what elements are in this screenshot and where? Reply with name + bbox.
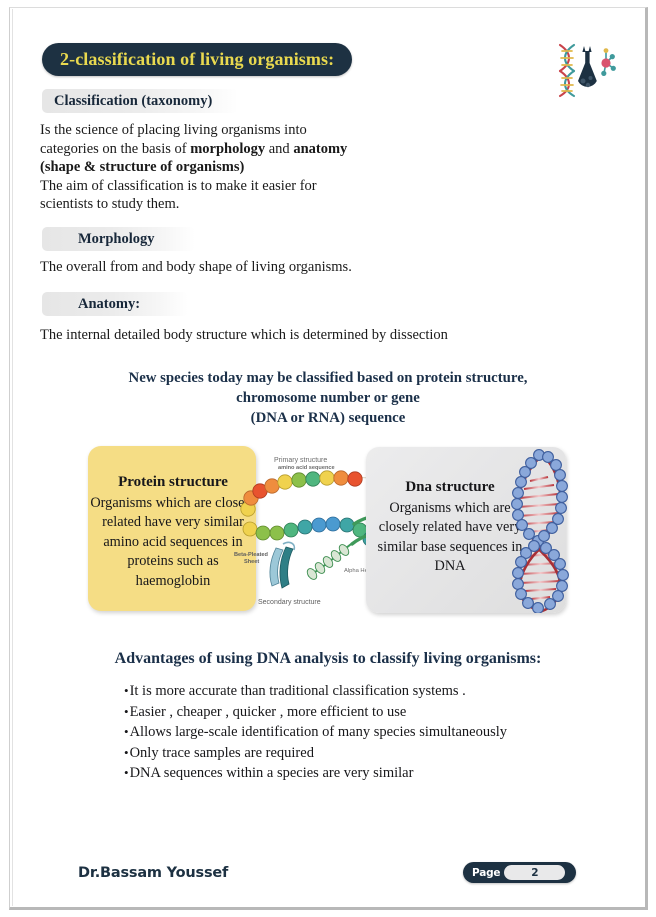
heading-morphology-label: Morphology <box>78 231 155 248</box>
dna-flask-molecule-logo-icon <box>552 37 618 99</box>
classification-line-2: categories on the basis of morphology an… <box>40 140 400 159</box>
page-title: 2-classification of living organisms: <box>60 49 334 70</box>
heading-classification-label: Classification (taxonomy) <box>54 93 212 110</box>
list-item-label: Only trace samples are required <box>130 744 314 764</box>
morphology-body: The overall from and body shape of livin… <box>40 258 460 277</box>
classification-line-2-a: categories on the basis of <box>40 141 190 157</box>
list-item: • Easier , cheaper , quicker , more effi… <box>124 702 594 723</box>
dna-double-helix-diagram-icon <box>502 447 580 613</box>
page-title-bar: 2-classification of living organisms: <box>42 43 352 76</box>
list-item: • Allows large-scale identification of m… <box>124 722 594 743</box>
page-badge-number: 2 <box>504 865 565 880</box>
page-root: 2-classification of living organisms: <box>0 0 656 917</box>
card-dna-body: Organisms which are closely related have… <box>378 500 523 575</box>
svg-text:Sheet: Sheet <box>244 559 259 565</box>
card-protein-body: Organisms which are closely related have… <box>90 495 255 589</box>
list-item-label: DNA sequences within a species are very … <box>130 764 414 784</box>
card-protein-structure: Protein structure Organisms which are cl… <box>88 446 256 611</box>
classification-line-4: The aim of classification is to make it … <box>40 177 400 196</box>
heading-classification: Classification (taxonomy) <box>42 89 238 113</box>
classification-body: Is the science of placing living organis… <box>40 121 400 214</box>
page-number-badge: Page 2 <box>463 862 576 883</box>
bullet-icon: • <box>124 681 129 701</box>
heading-anatomy-label: Anatomy: <box>78 296 140 313</box>
classification-line-2-b: and <box>265 141 293 157</box>
page-badge-label: Page <box>472 867 500 879</box>
bullet-icon: • <box>124 722 129 742</box>
term-anatomy: anatomy <box>293 141 347 157</box>
term-morphology: morphology <box>190 141 265 157</box>
card-protein-title: Protein structure <box>90 473 256 493</box>
heading-anatomy: Anatomy: <box>42 292 188 316</box>
svg-text:amino acid sequence: amino acid sequence <box>278 465 335 471</box>
statement-line-1: New species today may be classified base… <box>0 368 656 388</box>
advantages-list: • It is more accurate than traditional c… <box>124 681 594 784</box>
svg-text:Primary structure: Primary structure <box>274 457 327 464</box>
card-dna-structure: Dna structure Organisms which are closel… <box>366 447 566 613</box>
classification-line-5: scientists to study them. <box>40 195 400 214</box>
statement-line-3: (DNA or RNA) sequence <box>0 408 656 428</box>
classification-line-1: Is the science of placing living organis… <box>40 121 400 140</box>
heading-morphology: Morphology <box>42 227 195 251</box>
list-item: • It is more accurate than traditional c… <box>124 681 594 702</box>
card-protein-text: Protein structure Organisms which are cl… <box>90 473 256 591</box>
advantages-title: Advantages of using DNA analysis to clas… <box>0 650 656 668</box>
list-item-label: Easier , cheaper , quicker , more effici… <box>130 703 407 723</box>
svg-text:Beta-Pleated: Beta-Pleated <box>234 552 268 558</box>
list-item-label: It is more accurate than traditional cla… <box>130 682 466 702</box>
list-item-label: Allows large-scale identification of man… <box>130 723 507 743</box>
bullet-icon: • <box>124 763 129 783</box>
classification-basis-statement: New species today may be classified base… <box>0 368 656 428</box>
term-shape-structure: (shape & structure of organisms) <box>40 159 244 175</box>
statement-line-2: chromosome number or gene <box>0 388 656 408</box>
classification-line-3: (shape & structure of organisms) <box>40 158 400 177</box>
footer-author: Dr.Bassam Youssef <box>78 865 228 881</box>
bullet-icon: • <box>124 702 129 722</box>
bullet-icon: • <box>124 743 129 763</box>
list-item: • DNA sequences within a species are ver… <box>124 763 594 784</box>
anatomy-body: The internal detailed body structure whi… <box>40 326 560 345</box>
list-item: • Only trace samples are required <box>124 743 594 764</box>
svg-text:Secondary structure: Secondary structure <box>258 599 321 606</box>
